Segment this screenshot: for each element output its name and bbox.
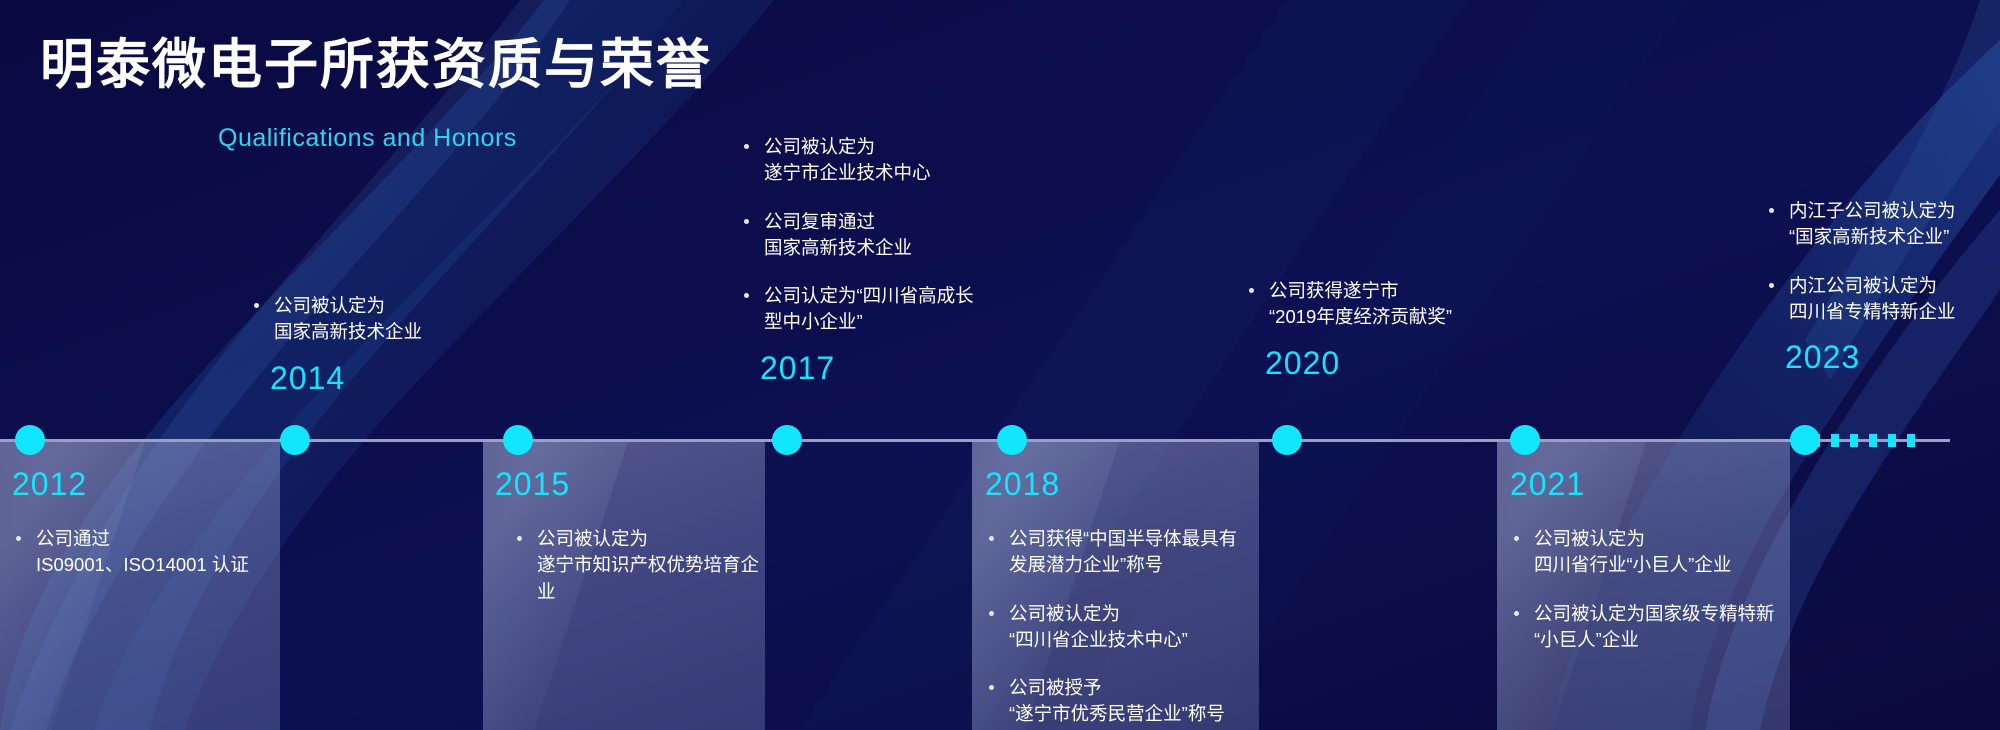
- milestone-bullets-2020: 公司获得遂宁市 “2019年度经济贡献奖”: [1245, 278, 1545, 331]
- timeline-dot-2012[interactable]: [15, 425, 45, 455]
- milestone-bullets-2021: 公司被认定为 四川省行业“小巨人”企业 公司被认定为国家级专精特新 “小巨人”企…: [1510, 526, 1798, 653]
- milestone-year-2018: 2018: [985, 468, 1263, 500]
- milestone-bullets-2015: 公司被认定为 遂宁市知识产权优势培育企业: [495, 526, 770, 605]
- axis-dash: [1850, 434, 1858, 447]
- timeline-dot-2020[interactable]: [1272, 425, 1302, 455]
- list-item: 公司通过 IS09001、ISO14001 认证: [12, 526, 284, 579]
- milestone-bullets-2012: 公司通过 IS09001、ISO14001 认证: [12, 526, 284, 579]
- milestone-year-2021: 2021: [1510, 468, 1798, 500]
- list-item: 内江子公司被认定为 “国家高新技术企业”: [1765, 198, 2000, 251]
- slide-canvas: 明泰微电子所获资质与荣誉 Qualifications and Honors 2…: [0, 0, 2000, 730]
- milestone-year-2023: 2023: [1785, 341, 2000, 373]
- milestone-2014: 公司被认定为 国家高新技术企业 2014: [250, 293, 550, 394]
- milestone-year-2014: 2014: [270, 362, 550, 394]
- list-item: 公司被认定为 国家高新技术企业: [250, 293, 550, 346]
- axis-dash: [1869, 434, 1877, 447]
- timeline-dot-2023[interactable]: [1790, 425, 1820, 455]
- milestone-year-2020: 2020: [1265, 347, 1545, 379]
- milestone-2021: 2021 公司被认定为 四川省行业“小巨人”企业 公司被认定为国家级专精特新 “…: [1510, 468, 1798, 653]
- list-item: 内江公司被认定为 四川省专精特新企业: [1765, 273, 2000, 326]
- page-title: 明泰微电子所获资质与荣誉: [40, 36, 712, 95]
- page-subtitle: Qualifications and Honors: [218, 124, 517, 153]
- milestone-2015: 2015 公司被认定为 遂宁市知识产权优势培育企业: [495, 468, 770, 605]
- list-item: 公司复审通过 国家高新技术企业: [740, 209, 1040, 262]
- milestone-2023: 内江子公司被认定为 “国家高新技术企业” 内江公司被认定为 四川省专精特新企业 …: [1765, 198, 2000, 373]
- milestone-year-2012: 2012: [12, 468, 284, 500]
- timeline-dot-2018[interactable]: [997, 425, 1027, 455]
- milestone-year-2017: 2017: [760, 352, 1040, 384]
- milestone-bullets-2014: 公司被认定为 国家高新技术企业: [250, 293, 550, 346]
- list-item: 公司被认定为 遂宁市企业技术中心: [740, 134, 1040, 187]
- milestone-bullets-2017: 公司被认定为 遂宁市企业技术中心 公司复审通过 国家高新技术企业 公司认定为“四…: [740, 134, 1040, 336]
- axis-dash: [1907, 434, 1915, 447]
- list-item: 公司获得遂宁市 “2019年度经济贡献奖”: [1245, 278, 1545, 331]
- timeline-dot-2017[interactable]: [772, 425, 802, 455]
- list-item: 公司被授予 “遂宁市优秀民营企业”称号: [985, 675, 1263, 728]
- axis-dash: [1888, 434, 1896, 447]
- milestone-bullets-2018: 公司获得“中国半导体最具有 发展潜力企业”称号 公司被认定为 “四川省企业技术中…: [985, 526, 1263, 728]
- timeline-dot-2014[interactable]: [280, 425, 310, 455]
- list-item: 公司被认定为 遂宁市知识产权优势培育企业: [513, 526, 770, 605]
- milestone-year-2015: 2015: [495, 468, 770, 500]
- milestone-2018: 2018 公司获得“中国半导体最具有 发展潜力企业”称号 公司被认定为 “四川省…: [985, 468, 1263, 728]
- list-item: 公司被认定为 “四川省企业技术中心”: [985, 601, 1263, 654]
- list-item: 公司认定为“四川省高成长 型中小企业”: [740, 283, 1040, 336]
- list-item: 公司获得“中国半导体最具有 发展潜力企业”称号: [985, 526, 1263, 579]
- list-item: 公司被认定为国家级专精特新 “小巨人”企业: [1510, 601, 1798, 654]
- milestone-2017: 公司被认定为 遂宁市企业技术中心 公司复审通过 国家高新技术企业 公司认定为“四…: [740, 134, 1040, 384]
- timeline-dot-2021[interactable]: [1510, 425, 1540, 455]
- milestone-bullets-2023: 内江子公司被认定为 “国家高新技术企业” 内江公司被认定为 四川省专精特新企业: [1765, 198, 2000, 325]
- milestone-2020: 公司获得遂宁市 “2019年度经济贡献奖” 2020: [1245, 278, 1545, 379]
- timeline-axis-dashes: [1812, 434, 1915, 447]
- axis-dash: [1831, 434, 1839, 447]
- milestone-2012: 2012 公司通过 IS09001、ISO14001 认证: [12, 468, 284, 579]
- list-item: 公司被认定为 四川省行业“小巨人”企业: [1510, 526, 1798, 579]
- timeline-dot-2015[interactable]: [503, 425, 533, 455]
